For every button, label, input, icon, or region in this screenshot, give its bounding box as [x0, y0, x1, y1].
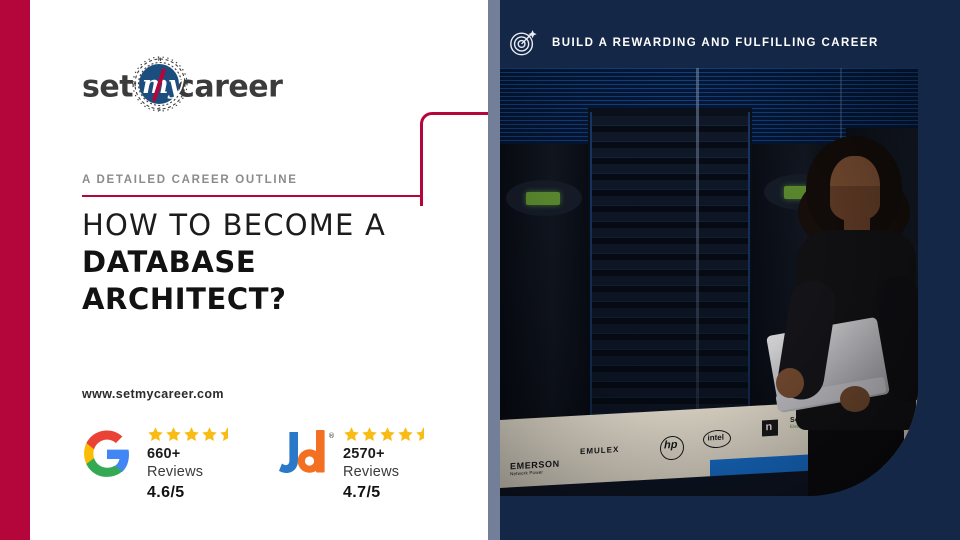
panel-divider — [488, 0, 500, 540]
star-full-icon — [397, 426, 414, 443]
star-rating — [147, 426, 236, 443]
photo-vignette — [500, 68, 918, 496]
star-full-icon — [361, 426, 378, 443]
star-full-icon — [183, 426, 200, 443]
star-half-icon — [415, 426, 432, 443]
page-title: HOW TO BECOME A DATABASE ARCHITECT? — [82, 207, 482, 318]
connector-vertical — [420, 123, 423, 206]
rating-score: 4.6/5 — [147, 482, 236, 504]
poster-canvas: set NS WE mycareer — [0, 0, 960, 540]
logo-my-badge: NS WE my — [133, 68, 177, 108]
connector-corner — [420, 112, 454, 134]
banner-headline: BUILD A REWARDING AND FULFILLING CAREER — [552, 37, 879, 49]
eyebrow-underline — [82, 195, 422, 197]
svg-text:W: W — [132, 82, 137, 87]
star-full-icon — [201, 426, 218, 443]
rating-badges: 660+ Reviews 4.6/5 ® — [82, 424, 432, 504]
star-full-icon — [147, 426, 164, 443]
reviews-label: Reviews — [343, 464, 432, 482]
badge-info: 660+ Reviews 4.6/5 — [147, 424, 236, 504]
website-url[interactable]: www.setmycareer.com — [82, 387, 224, 401]
svg-text:E: E — [183, 82, 186, 87]
logo-wordmark: set NS WE mycareer — [82, 68, 282, 108]
star-full-icon — [343, 426, 360, 443]
left-content-panel: set NS WE mycareer — [30, 0, 488, 540]
setmycareer-logo[interactable]: set NS WE mycareer — [82, 56, 302, 120]
star-full-icon — [165, 426, 182, 443]
justdial-jd-icon: ® — [278, 428, 336, 480]
rating-score: 4.7/5 — [343, 482, 432, 504]
svg-text:N: N — [158, 57, 161, 62]
google-rating-badge[interactable]: 660+ Reviews 4.6/5 — [82, 424, 236, 504]
reviews-label: Reviews — [147, 464, 236, 482]
eyebrow-label: A DETAILED CAREER OUTLINE — [82, 174, 298, 186]
review-count: 660+ — [147, 446, 236, 464]
banner-header: BUILD A REWARDING AND FULFILLING CAREER — [508, 28, 879, 58]
right-media-panel: BUILD A REWARDING AND FULFILLING CAREER — [500, 0, 960, 540]
datacenter-photo: EMERSONNetwork Power EMULEX hp intel n S… — [500, 68, 918, 496]
headline-line-3: ARCHITECT? — [82, 281, 482, 318]
target-arrow-icon — [508, 28, 538, 58]
svg-text:S: S — [158, 107, 161, 112]
logo-text-career: career — [177, 70, 282, 105]
google-g-icon — [82, 429, 132, 479]
justdial-rating-badge[interactable]: ® 2570+ Reviews 4.7/5 — [278, 424, 432, 504]
photo-inner: EMERSONNetwork Power EMULEX hp intel n S… — [500, 68, 918, 496]
svg-text:®: ® — [328, 432, 335, 440]
star-rating — [343, 426, 432, 443]
headline-line-2: DATABASE — [82, 244, 482, 281]
star-full-icon — [379, 426, 396, 443]
star-half-icon — [219, 426, 236, 443]
badge-logo: ® — [278, 424, 334, 486]
headline-line-1: HOW TO BECOME A — [82, 207, 482, 244]
badge-logo — [82, 424, 138, 486]
logo-text-set: set — [82, 70, 133, 105]
left-accent-bar — [0, 0, 30, 540]
review-count: 2570+ — [343, 446, 432, 464]
badge-info: 2570+ Reviews 4.7/5 — [343, 424, 432, 504]
